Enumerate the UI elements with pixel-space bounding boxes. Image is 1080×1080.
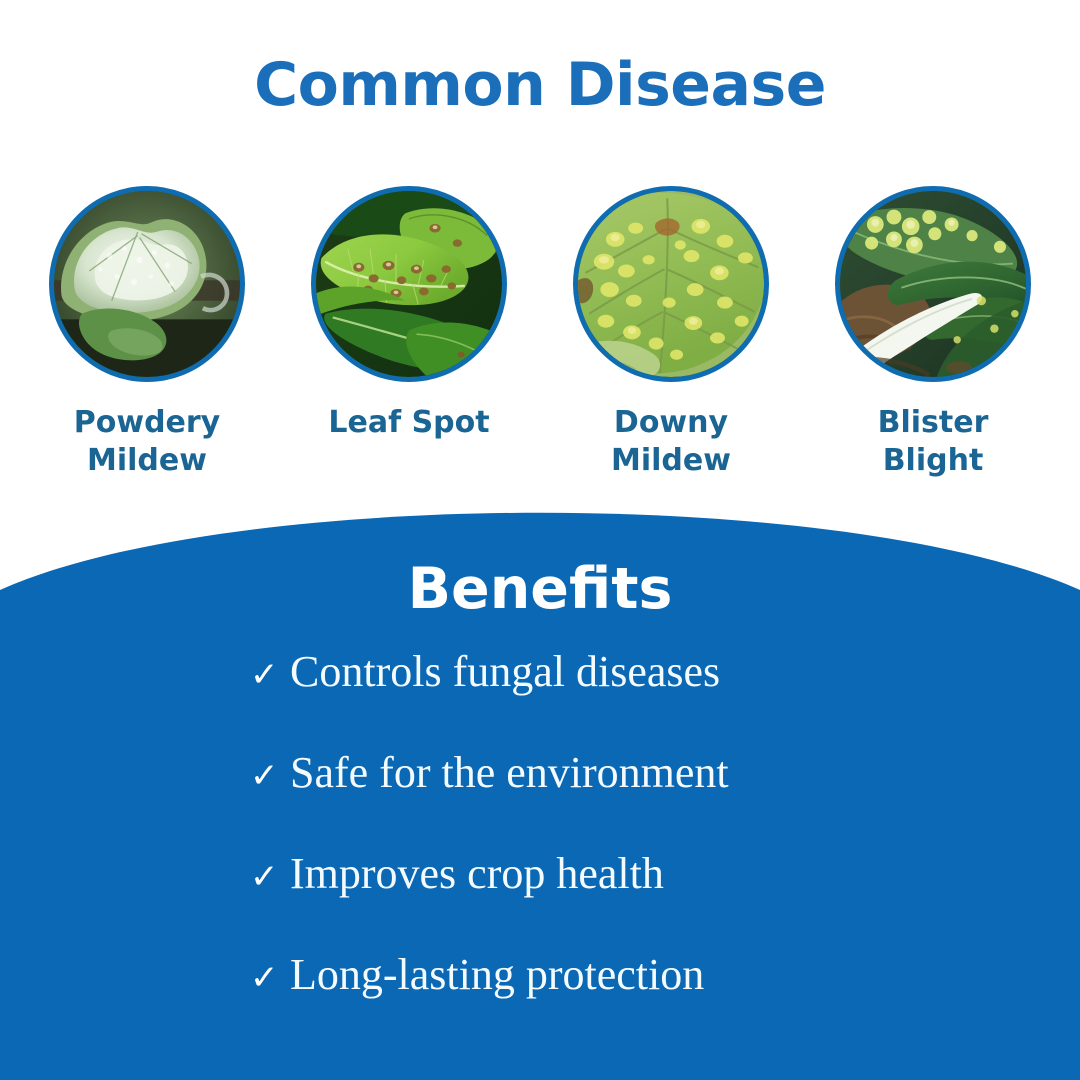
page-title: Common Disease xyxy=(0,52,1080,118)
disease-label: Powdery Mildew xyxy=(74,404,220,481)
check-icon: ✓ xyxy=(250,961,290,995)
disease-card-leaf-spot[interactable]: Leaf Spot xyxy=(298,186,520,496)
disease-card-powdery-mildew[interactable]: Powdery Mildew xyxy=(36,186,258,496)
leaf-spot-leaf-photo xyxy=(311,186,507,382)
check-icon: ✓ xyxy=(250,759,290,793)
benefits-title: Benefits xyxy=(0,560,1080,620)
list-item: ✓ Improves crop health xyxy=(0,850,1080,951)
benefit-text: Safe for the environment xyxy=(290,749,729,797)
benefits-list: ✓ Controls fungal diseases ✓ Safe for th… xyxy=(0,648,1080,1052)
list-item: ✓ Controls fungal diseases xyxy=(0,648,1080,749)
disease-label: Leaf Spot xyxy=(328,404,489,442)
list-item: ✓ Long-lasting protection xyxy=(0,951,1080,1052)
powdery-mildew-leaf-photo xyxy=(49,186,245,382)
benefits-panel: Benefits ✓ Controls fungal diseases ✓ Sa… xyxy=(0,505,1080,1080)
disease-list: Powdery Mildew xyxy=(0,186,1080,496)
infographic-page: Common Disease xyxy=(0,0,1080,1080)
disease-label: Blister Blight xyxy=(878,404,989,481)
disease-card-downy-mildew[interactable]: Downy Mildew xyxy=(560,186,782,496)
disease-label: Downy Mildew xyxy=(611,404,731,481)
disease-card-blister-blight[interactable]: Blister Blight xyxy=(822,186,1044,496)
benefit-text: Controls fungal diseases xyxy=(290,648,720,696)
check-icon: ✓ xyxy=(250,658,290,692)
check-icon: ✓ xyxy=(250,860,290,894)
benefit-text: Improves crop health xyxy=(290,850,664,898)
downy-mildew-leaf-photo xyxy=(573,186,769,382)
benefit-text: Long-lasting protection xyxy=(290,951,704,999)
list-item: ✓ Safe for the environment xyxy=(0,749,1080,850)
blister-blight-leaf-photo xyxy=(835,186,1031,382)
